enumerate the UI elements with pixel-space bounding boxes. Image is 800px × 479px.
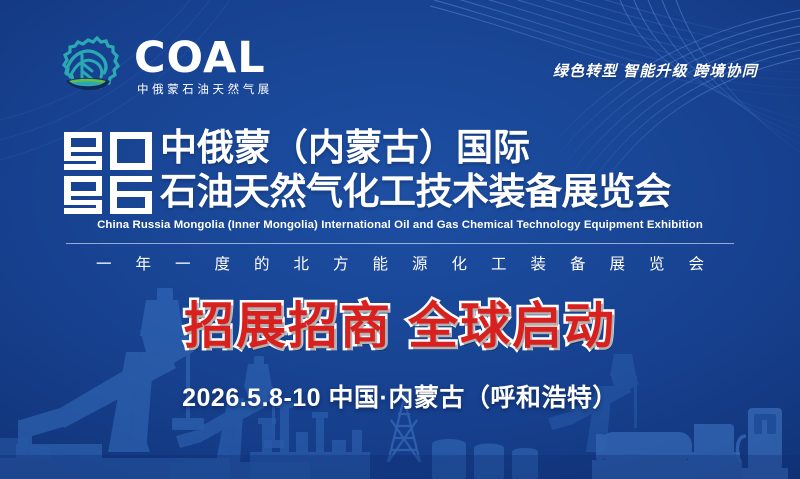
title-line-2: 石油天然气化工技术装备展览会 xyxy=(160,170,671,214)
spaced-subtitle: 一年一度的北方能源化工装备展览会 xyxy=(0,252,800,274)
date-location: 2026.5.8-10 中国·内蒙古（呼和浩特） xyxy=(0,378,800,414)
storage-tanks xyxy=(432,439,538,479)
logo-subtitle: 中俄蒙石油天然气展 xyxy=(134,81,273,97)
fuel-dispenser xyxy=(738,408,788,479)
divider-line xyxy=(66,243,734,244)
title-line-1: 中俄蒙（内蒙古）国际 xyxy=(160,126,671,170)
logo-wordmark: COAL xyxy=(134,39,266,78)
coal-gear-wave-logo-icon xyxy=(52,33,124,101)
main-title-block: 中俄蒙（内蒙古）国际 石油天然气化工技术装备展览会 xyxy=(62,126,671,216)
tanker-truck xyxy=(592,424,742,479)
tagline: 绿色转型 智能升级 跨境协同 xyxy=(553,60,758,81)
oil-pumpjack-small xyxy=(170,356,310,479)
exhibition-poster: COAL 中俄蒙石油天然气展 绿色转型 智能升级 跨境协同 xyxy=(0,0,800,479)
english-title: China Russia Mongolia (Inner Mongolia) I… xyxy=(0,219,800,231)
year-numerals xyxy=(62,126,154,216)
year-2026-graphic xyxy=(62,128,154,216)
headline-banner: 招展招商 全球启动 xyxy=(0,286,800,358)
logo-block: COAL 中俄蒙石油天然气展 xyxy=(52,33,273,101)
